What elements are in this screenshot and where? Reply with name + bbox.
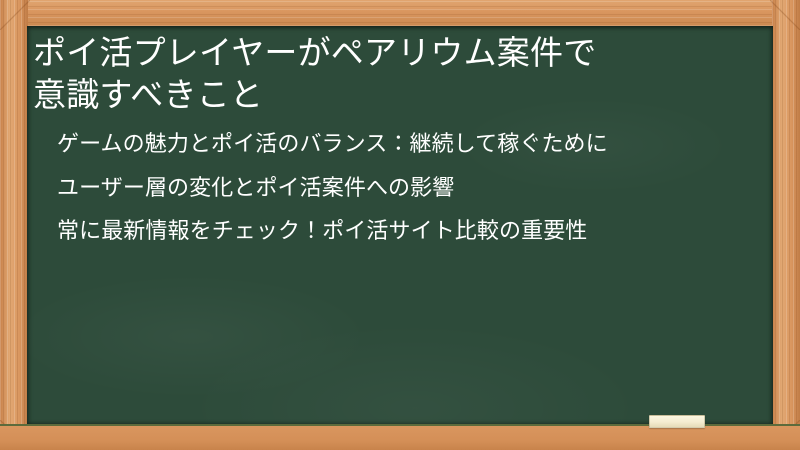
topic-list-item: ゲームの魅力とポイ活のバランス：継続して稼ぐために: [57, 129, 751, 158]
frame-rail-right: [772, 0, 800, 450]
frame-rail-top: [0, 0, 800, 26]
slide-title: ポイ活プレイヤーがペアリウム案件で 意識すべきこと: [33, 32, 751, 115]
board-content: ポイ活プレイヤーがペアリウム案件で 意識すべきこと ゲームの魅力とポイ活のバラン…: [27, 26, 773, 246]
topic-list-item: ユーザー層の変化とポイ活案件への影響: [57, 173, 751, 202]
topic-list: ゲームの魅力とポイ活のバランス：継続して稼ぐために ユーザー層の変化とポイ活案件…: [33, 129, 751, 245]
blackboard-slide: ポイ活プレイヤーがペアリウム案件で 意識すべきこと ゲームの魅力とポイ活のバラン…: [0, 0, 800, 450]
chalkboard-surface: ポイ活プレイヤーがペアリウム案件で 意識すべきこと ゲームの魅力とポイ活のバラン…: [27, 26, 773, 424]
topic-list-item: 常に最新情報をチェック！ポイ活サイト比較の重要性: [57, 216, 751, 245]
frame-rail-left: [0, 0, 28, 450]
eraser-icon: [649, 415, 705, 428]
